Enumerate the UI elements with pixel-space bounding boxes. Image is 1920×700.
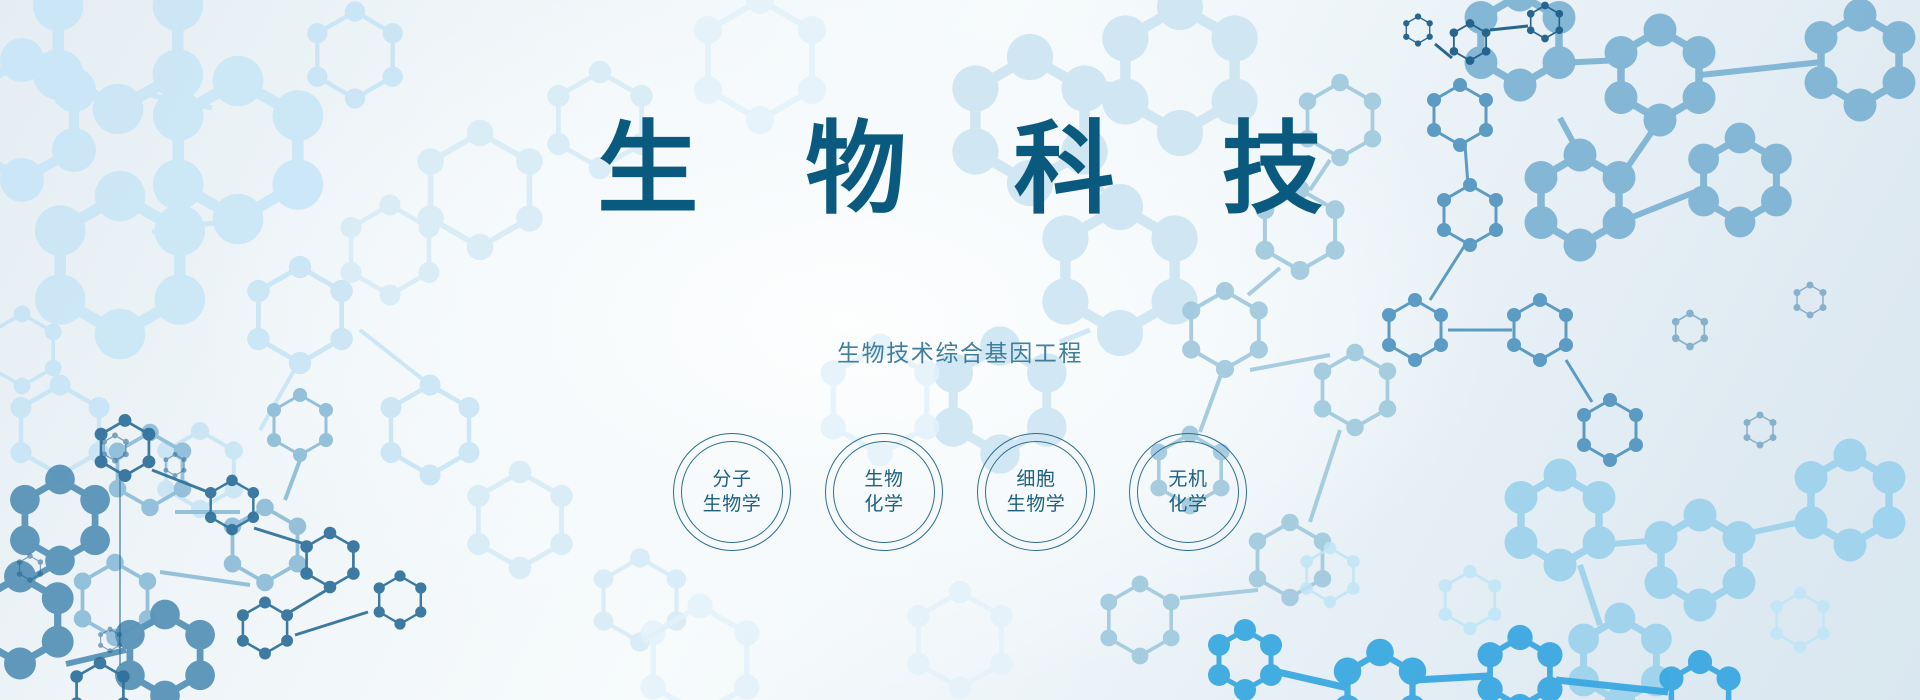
biotech-hero-banner: 生 物 科 技 生物技术综合基因工程 分子 生物学 生物 化学 细胞 生物学 无…	[0, 0, 1920, 700]
banner-content: 生 物 科 技 生物技术综合基因工程 分子 生物学 生物 化学 细胞 生物学 无…	[0, 0, 1920, 700]
discipline-badge-label: 细胞 生物学	[1007, 467, 1066, 516]
page-title: 生 物 科 技	[561, 118, 1359, 221]
discipline-badge-label: 分子 生物学	[703, 467, 762, 516]
discipline-badge-label: 生物 化学	[864, 467, 903, 516]
page-subtitle: 生物技术综合基因工程	[837, 334, 1083, 368]
discipline-badge-label: 无机 化学	[1168, 467, 1207, 516]
discipline-badge-cell-biology[interactable]: 细胞 生物学	[977, 433, 1095, 551]
discipline-badge-inorganic-chemistry[interactable]: 无机 化学	[1129, 433, 1247, 551]
discipline-badge-biochemistry[interactable]: 生物 化学	[825, 433, 943, 551]
discipline-badge-molecular-biology[interactable]: 分子 生物学	[673, 433, 791, 551]
discipline-badge-row: 分子 生物学 生物 化学 细胞 生物学 无机 化学	[673, 433, 1247, 551]
